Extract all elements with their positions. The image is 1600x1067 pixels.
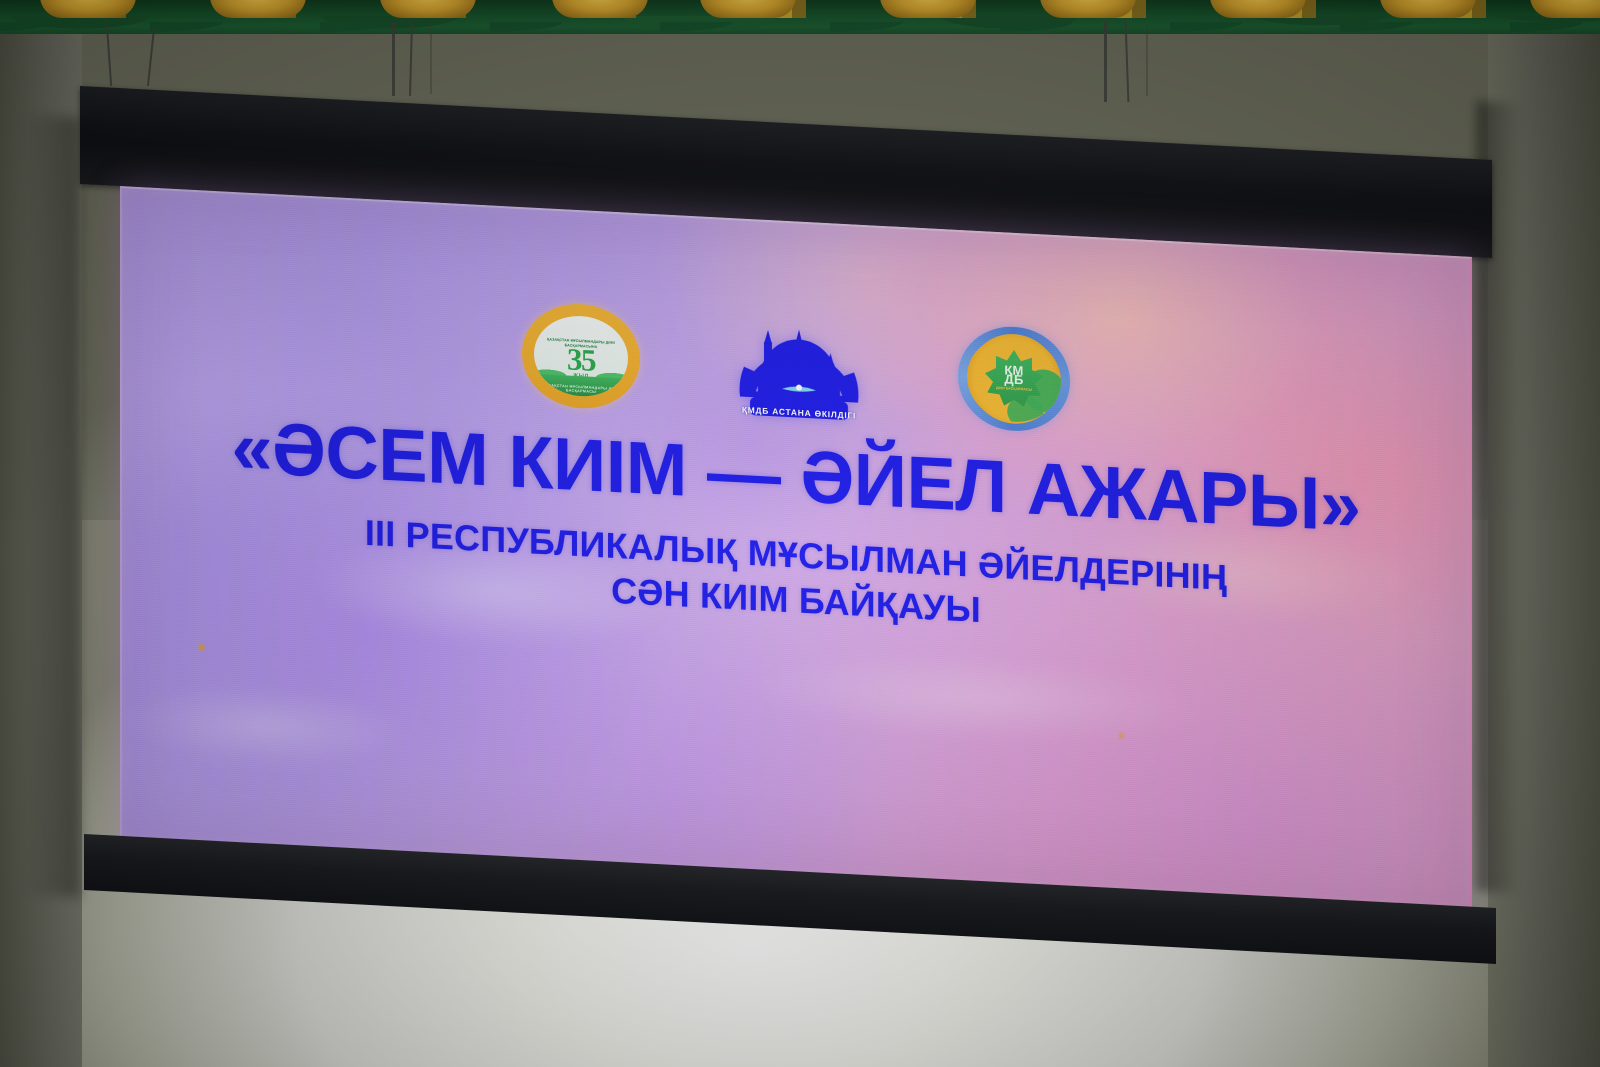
curtain-tassel xyxy=(210,0,306,18)
curtain-tassel xyxy=(552,0,648,18)
logo-kmdb-letters-line2: ДБ xyxy=(1004,373,1023,385)
photo-scene: ҚАЗАҚСТАН МҰСЫЛМАНДАРЫ ДІНИ БАСҚАРМАСЫНА… xyxy=(0,0,1600,1067)
led-screen-assembly: ҚАЗАҚСТАН МҰСЫЛМАНДАРЫ ДІНИ БАСҚАРМАСЫНА… xyxy=(72,76,1492,876)
logo-35-years: ҚАЗАҚСТАН МҰСЫЛМАНДАРЫ ДІНИ БАСҚАРМАСЫНА… xyxy=(522,301,640,411)
slide-content: ҚАЗАҚСТАН МҰСЫЛМАНДАРЫ ДІНИ БАСҚАРМАСЫНА… xyxy=(120,186,1472,912)
curtain-tassel xyxy=(700,0,796,18)
logo-kmdb-subtext: ДІНИ БАСҚАРМАСЫ xyxy=(991,386,1037,393)
logo-35-years-inner: ҚАЗАҚСТАН МҰСЫЛМАНДАРЫ ДІНИ БАСҚАРМАСЫНА… xyxy=(534,314,628,399)
frame-cast-shadow-left xyxy=(24,114,80,897)
curtain-tassel xyxy=(1530,0,1600,18)
curtain-tassel xyxy=(1380,0,1476,18)
panel-dead-pixel xyxy=(1118,730,1125,740)
curtain-swag xyxy=(0,16,1600,34)
curtain-tassel xyxy=(880,0,976,18)
led-panel: ҚАЗАҚСТАН МҰСЫЛМАНДАРЫ ДІНИ БАСҚАРМАСЫНА… xyxy=(120,186,1472,912)
curtain-tassel xyxy=(1210,0,1306,18)
logo-kmdb-emblem: ҚМ ДБ ДІНИ БАСҚАРМАСЫ xyxy=(958,324,1070,434)
logo-kmdb-astana: ҚМДБ АСТАНА ӨКІЛДІГІ xyxy=(724,310,874,426)
curtain-tassel xyxy=(380,0,476,18)
curtain-tassel xyxy=(40,0,136,18)
panel-dead-pixel xyxy=(198,642,205,652)
curtain-tassel xyxy=(1040,0,1136,18)
